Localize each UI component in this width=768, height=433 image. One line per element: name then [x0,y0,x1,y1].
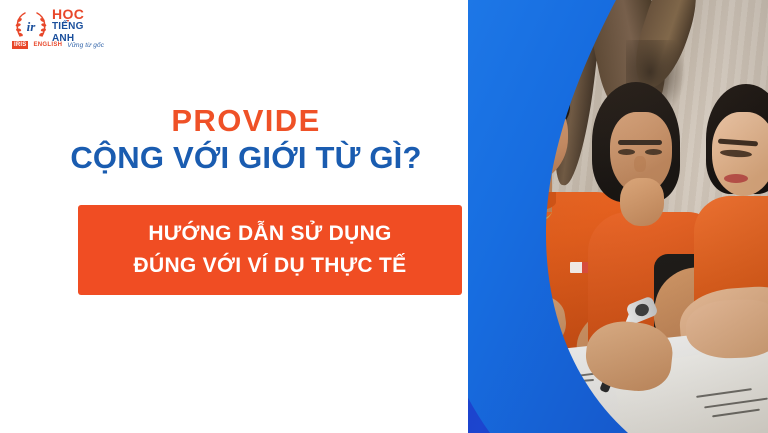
banner: ir HỌC TIẾNG ANH IRIS ENGLISH Vững từ gố… [0,0,768,433]
cta-line-1: HƯỚNG DẪN SỬ DỤNG [148,219,391,249]
cta-banner: HƯỚNG DẪN SỬ DỤNG ĐÚNG VỚI VÍ DỤ THỰC TẾ [78,205,462,295]
svg-text:ir: ir [27,19,37,34]
laurel-wreath-icon: ir [12,9,50,43]
logo-wordmark: HỌC TIẾNG ANH [52,8,108,45]
logo-english-text: ENGLISH [33,42,62,48]
artwork-panel [468,0,768,433]
logo-hoc-text: HỌC [52,8,108,21]
logo-subline: IRIS ENGLISH Vững từ gốc [12,41,104,49]
headline-keyword: PROVIDE [0,104,492,138]
logo[interactable]: ir HỌC TIẾNG ANH IRIS ENGLISH Vững từ gố… [12,7,108,49]
logo-slogan: Vững từ gốc [67,42,104,49]
headline-block: PROVIDE CỘNG VỚI GIỚI TỪ GÌ? [0,104,492,178]
cta-line-2: ĐÚNG VỚI VÍ DỤ THỰC TẾ [134,251,407,281]
swoosh-inner-cut [468,0,768,433]
logo-iris-badge: IRIS [12,41,28,49]
headline-question: CỘNG VỚI GIỚI TỪ GÌ? [0,138,492,178]
